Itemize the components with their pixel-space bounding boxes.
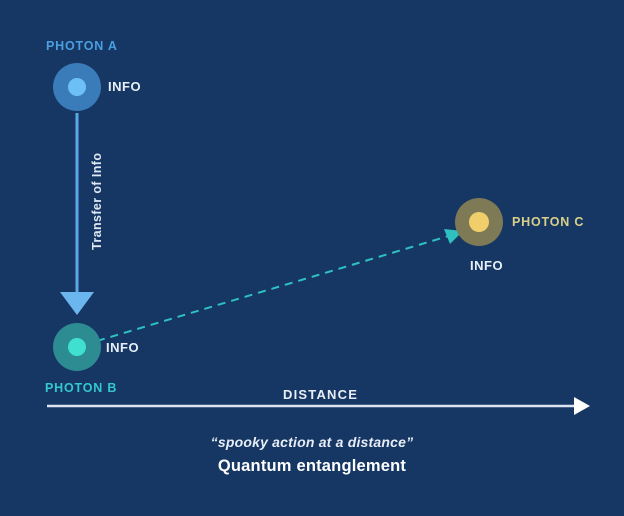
photon-c-core-icon bbox=[469, 212, 489, 232]
caption-title: Quantum entanglement bbox=[0, 457, 624, 476]
transfer-arrow-head bbox=[60, 292, 94, 315]
photon-b-info-label: INFO bbox=[106, 340, 139, 355]
transfer-of-info-arrow bbox=[60, 113, 94, 315]
photon-b-core-icon bbox=[68, 338, 86, 356]
photon-b-label: PHOTON B bbox=[45, 381, 117, 395]
entanglement-dashed-arrow bbox=[97, 229, 463, 341]
photon-a-info-label: INFO bbox=[108, 79, 141, 94]
photon-c-info-label: INFO bbox=[470, 258, 503, 273]
transfer-of-info-label: Transfer of Info bbox=[90, 153, 104, 250]
quantum-entanglement-diagram: PHOTON A INFO Transfer of Info INFO PHOT… bbox=[0, 0, 624, 516]
distance-label: DISTANCE bbox=[283, 387, 358, 402]
photon-b-node[interactable] bbox=[53, 323, 101, 371]
photon-a-node[interactable] bbox=[53, 63, 101, 111]
distance-axis-head bbox=[574, 397, 590, 415]
photon-a-label: PHOTON A bbox=[46, 39, 118, 53]
entanglement-dashed-line bbox=[97, 235, 452, 341]
photon-a-core-icon bbox=[68, 78, 86, 96]
photon-c-node[interactable] bbox=[455, 198, 503, 246]
photon-c-label: PHOTON C bbox=[512, 215, 584, 229]
caption-quote: “spooky action at a distance” bbox=[0, 434, 624, 450]
